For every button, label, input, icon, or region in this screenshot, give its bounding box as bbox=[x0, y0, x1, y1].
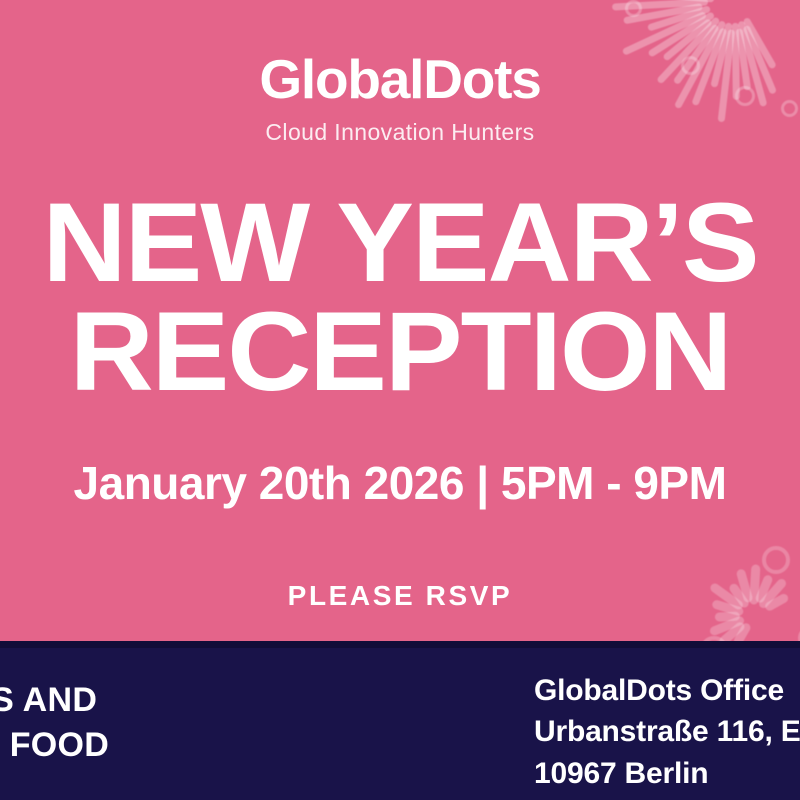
venue-address: GlobalDots Office Urbanstraße 116, E 109… bbox=[534, 670, 800, 794]
headline-line-2: RECEPTION bbox=[0, 299, 800, 404]
footer-divider bbox=[0, 641, 800, 648]
venue-name: GlobalDots Office bbox=[534, 670, 800, 711]
footer-amenities-text: DRINKS AND GREAT FOOD bbox=[0, 678, 109, 768]
page-title: NEW YEAR’S RECEPTION bbox=[0, 190, 800, 405]
brand-logo: GlobalDots Cloud Innovation Hunters bbox=[0, 52, 800, 144]
event-invitation-poster: GlobalDots Cloud Innovation Hunters NEW … bbox=[0, 0, 800, 800]
footer-amenities-line-1: DRINKS AND bbox=[0, 678, 109, 723]
brand-wordmark: GlobalDots bbox=[0, 52, 800, 107]
footer-bar: DRINKS AND GREAT FOOD GlobalDots Office … bbox=[0, 648, 800, 800]
rsvp-call-to-action[interactable]: PLEASE RSVP bbox=[0, 582, 800, 610]
headline-line-1: NEW YEAR’S bbox=[0, 190, 800, 295]
brand-tagline: Cloud Innovation Hunters bbox=[0, 121, 800, 144]
footer-amenities-line-2: GREAT FOOD bbox=[0, 723, 109, 768]
event-date-time: January 20th 2026 | 5PM - 9PM bbox=[0, 458, 800, 509]
venue-city: 10967 Berlin bbox=[534, 753, 800, 794]
venue-street: Urbanstraße 116, E bbox=[534, 711, 800, 752]
